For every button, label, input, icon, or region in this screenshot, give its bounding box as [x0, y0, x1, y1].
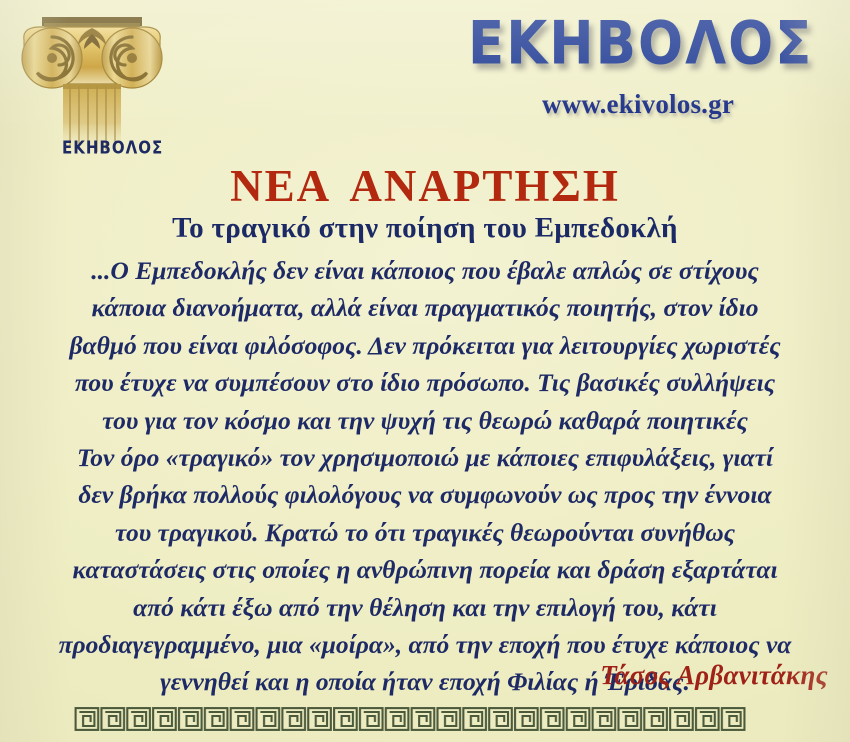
brand-website-url[interactable]: www.ekivolos.gr: [468, 89, 808, 120]
body-line: προδιαγεγραμμένο, μια «μοίρα», από την ε…: [20, 626, 830, 663]
body-line: δεν βρήκα πολλούς φιλολόγους να συμφωνού…: [20, 476, 830, 513]
page-subtitle: Το τραγικό στην ποίηση του Εμπεδοκλή: [0, 212, 850, 245]
body-line: Τον όρο «τραγικό» τον χρησιμοποιώ με κάπ…: [20, 439, 830, 476]
poster-canvas: ΕΚΗΒΟΛΟΣ ΕΚΗΒΟΛΟΣ www.ekivolos.gr ΝΕΑ ΑΝ…: [0, 0, 850, 742]
body-line: βαθμό που είναι φιλόσοφος. Δεν πρόκειται…: [20, 327, 830, 364]
emblem-label: ΕΚΗΒΟΛΟΣ: [62, 137, 163, 158]
body-line: που έτυχε να συμπέσουν στο ίδιο πρόσωπο.…: [20, 364, 830, 401]
body-line: κάποια διανοήματα, αλλά είναι πραγματικό…: [20, 289, 830, 326]
body-line: ...Ο Εμπεδοκλής δεν είναι κάποιος που έβ…: [20, 252, 830, 289]
author-signature: Τάσος Αρβανιτάκης: [600, 660, 828, 691]
greek-meander-border: [74, 706, 746, 732]
body-line: καταστάσεις στις οποίες η ανθρώπινη πορε…: [20, 551, 830, 588]
brand-wordmark: ΕΚΗΒΟΛΟΣ: [468, 14, 808, 73]
ionic-column-emblem: ΕΚΗΒΟΛΟΣ: [4, 0, 179, 172]
body-line: από κάτι έξω από την θέληση και την επιλ…: [20, 589, 830, 626]
meander-pattern-icon: [74, 706, 746, 732]
body-line: του τραγικού. Κρατώ το ότι τραγικές θεωρ…: [20, 514, 830, 551]
brand-logo[interactable]: ΕΚΗΒΟΛΟΣ www.ekivolos.gr: [468, 14, 808, 120]
page-title: ΝΕΑ ΑΝΑΡΤΗΣΗ: [0, 160, 850, 212]
body-line: του για τον κόσμο και την ψυχή τις θεωρώ…: [20, 402, 830, 439]
article-body: ...Ο Εμπεδοκλής δεν είναι κάποιος που έβ…: [20, 252, 830, 701]
